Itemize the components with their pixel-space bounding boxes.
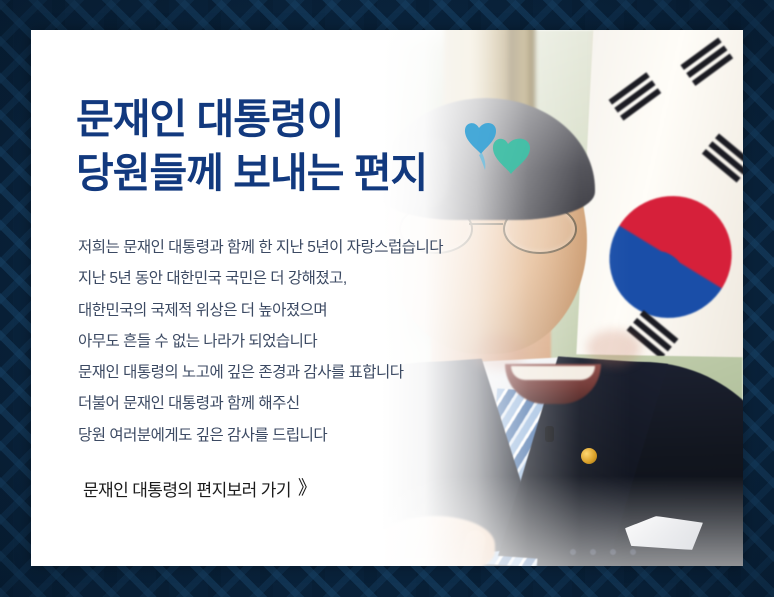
- text-column: 문재인 대통령이 당원들께 보내는 편지 저희는 문재인 대통령과 함께 한 지…: [31, 30, 501, 566]
- letter-link-label: 문재인 대통령의 편지보러 가기: [83, 476, 291, 501]
- double-chevron-right-icon: 》: [298, 479, 316, 498]
- page-title: 문재인 대통령이 당원들께 보내는 편지: [76, 92, 496, 200]
- content-card: 문재인 대통령이 당원들께 보내는 편지 저희는 문재인 대통령과 함께 한 지…: [31, 30, 743, 566]
- letter-banner: 문재인 대통령이 당원들께 보내는 편지 저희는 문재인 대통령과 함께 한 지…: [0, 0, 774, 597]
- letter-link-button[interactable]: 문재인 대통령의 편지보러 가기 》: [79, 470, 320, 507]
- body-text: 저희는 문재인 대통령과 함께 한 지난 5년이 자랑스럽습니다 지난 5년 동…: [78, 232, 508, 451]
